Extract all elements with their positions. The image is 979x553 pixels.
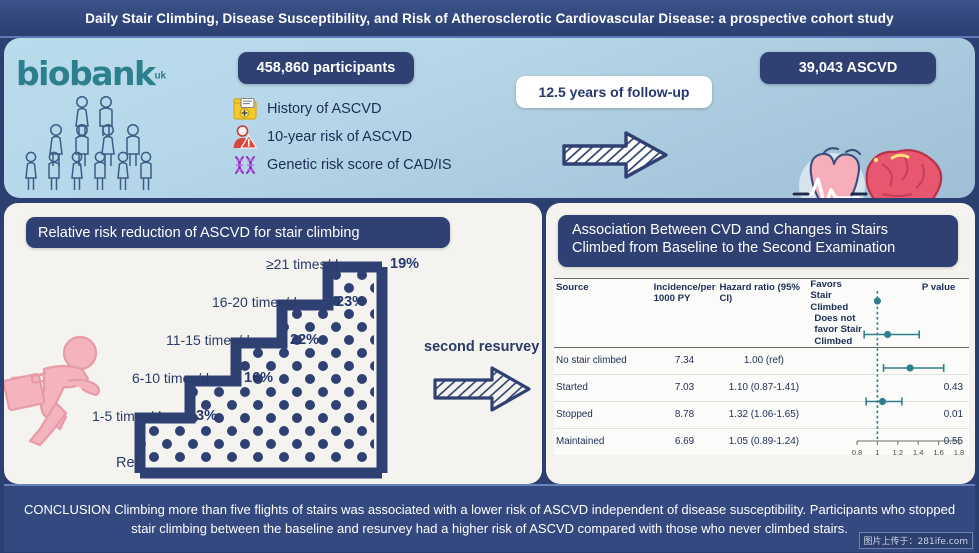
right-panel-heading: Association Between CVD and Changes in S… bbox=[558, 215, 958, 267]
forest-plot-panel: Association Between CVD and Changes in S… bbox=[546, 203, 975, 484]
step-pct-11-15: 22% bbox=[290, 332, 319, 348]
followup-badge: 12.5 years of follow-up bbox=[516, 76, 712, 108]
cell-incidence: 7.34 bbox=[652, 347, 718, 374]
participants-badge: 458,860 participants bbox=[238, 52, 414, 84]
step-label-21plus: ≥21 times/d bbox=[266, 256, 338, 272]
second-resurvey-label: second resurvey bbox=[424, 339, 539, 355]
forest-plot-markers bbox=[849, 291, 967, 439]
svg-text:0.8: 0.8 bbox=[852, 448, 863, 457]
col-incidence: Incidence/per 1000 PY bbox=[652, 279, 718, 348]
folder-record-icon bbox=[232, 96, 258, 122]
bullet-label: Genetic risk score of CAD/IS bbox=[267, 157, 452, 173]
svg-text:1.8: 1.8 bbox=[954, 448, 965, 457]
step-label-1-5: 1-5 times/d bbox=[92, 408, 161, 424]
dna-helix-icon bbox=[232, 152, 258, 178]
bullet-genetic-risk-score: Genetic risk score of CAD/IS bbox=[232, 152, 452, 178]
heart-and-brain-icon bbox=[776, 138, 952, 198]
hatched-arrow-right-icon bbox=[560, 128, 670, 182]
logo-uk-suffix: uk bbox=[154, 71, 166, 82]
cell-hazard-ratio: 1.10 (0.87-1.41) bbox=[717, 374, 810, 401]
page-title: Daily Stair Climbing, Disease Susceptibi… bbox=[71, 11, 907, 26]
col-source: Source bbox=[554, 279, 652, 348]
bullet-history-of-ascvd: History of ASCVD bbox=[232, 96, 381, 122]
logo-wordmark: biobank bbox=[16, 54, 154, 93]
hatched-arrow-right-icon-2 bbox=[432, 363, 532, 415]
cell-hazard-ratio: 1.32 (1.06-1.65) bbox=[717, 401, 810, 428]
cell-hazard-ratio: 1.00 (ref) bbox=[717, 347, 810, 374]
conclusion-text: CONCLUSION Climbing more than five fligh… bbox=[4, 500, 975, 539]
conclusion-banner: CONCLUSION Climbing more than five fligh… bbox=[4, 484, 975, 552]
svg-text:1.6: 1.6 bbox=[933, 448, 944, 457]
bullet-label: 10-year risk of ASCVD bbox=[267, 129, 412, 145]
stair-climbing-chart-panel: Ref 1-5 times/d 3% 6-10 times/d 16% 11-1… bbox=[4, 203, 542, 484]
ascvd-events-badge: 39,043 ASCVD bbox=[760, 52, 936, 84]
step-label-16-20: 16-20 times/d bbox=[212, 294, 297, 310]
step-pct-6-10: 16% bbox=[244, 370, 273, 386]
person-warning-icon bbox=[232, 124, 258, 150]
svg-text:1.2: 1.2 bbox=[893, 448, 904, 457]
cell-source: Started bbox=[554, 374, 652, 401]
cell-incidence: 6.69 bbox=[652, 428, 718, 455]
step-pct-21plus: 19% bbox=[390, 256, 419, 272]
col-hazard-ratio: Hazard ratio (95% CI) bbox=[717, 279, 810, 348]
svg-text:1: 1 bbox=[875, 448, 879, 457]
bullet-ten-year-risk: 10-year risk of ASCVD bbox=[232, 124, 412, 150]
study-overview-panel: biobankuk 458,860 participants bbox=[4, 38, 975, 198]
cell-incidence: 7.03 bbox=[652, 374, 718, 401]
forest-plot-axis: 0.811.21.41.61.8 bbox=[849, 435, 967, 461]
step-pct-1-5: 3% bbox=[196, 408, 217, 424]
title-bar: Daily Stair Climbing, Disease Susceptibi… bbox=[0, 0, 979, 38]
cell-source: Maintained bbox=[554, 428, 652, 455]
left-panel-heading: Relative risk reduction of ASCVD for sta… bbox=[26, 217, 450, 248]
crowd-of-people-icon bbox=[18, 94, 178, 194]
watermark: 图片上传于：281ife.com bbox=[859, 532, 973, 549]
cell-hazard-ratio: 1.05 (0.89-1.24) bbox=[717, 428, 810, 455]
step-label-6-10: 6-10 times/d bbox=[132, 370, 209, 386]
step-pct-16-20: 23% bbox=[336, 294, 365, 310]
cell-source: No stair climbed bbox=[554, 347, 652, 374]
infographic-page: Daily Stair Climbing, Disease Susceptibi… bbox=[0, 0, 979, 553]
svg-text:1.4: 1.4 bbox=[913, 448, 924, 457]
ref-label: Ref bbox=[116, 455, 139, 471]
bullet-label: History of ASCVD bbox=[267, 101, 381, 117]
uk-biobank-logo: biobankuk bbox=[16, 54, 191, 94]
cell-incidence: 8.78 bbox=[652, 401, 718, 428]
cell-source: Stopped bbox=[554, 401, 652, 428]
commuter-person-icon bbox=[4, 333, 132, 448]
step-label-11-15: 11-15 times/d bbox=[166, 332, 250, 348]
